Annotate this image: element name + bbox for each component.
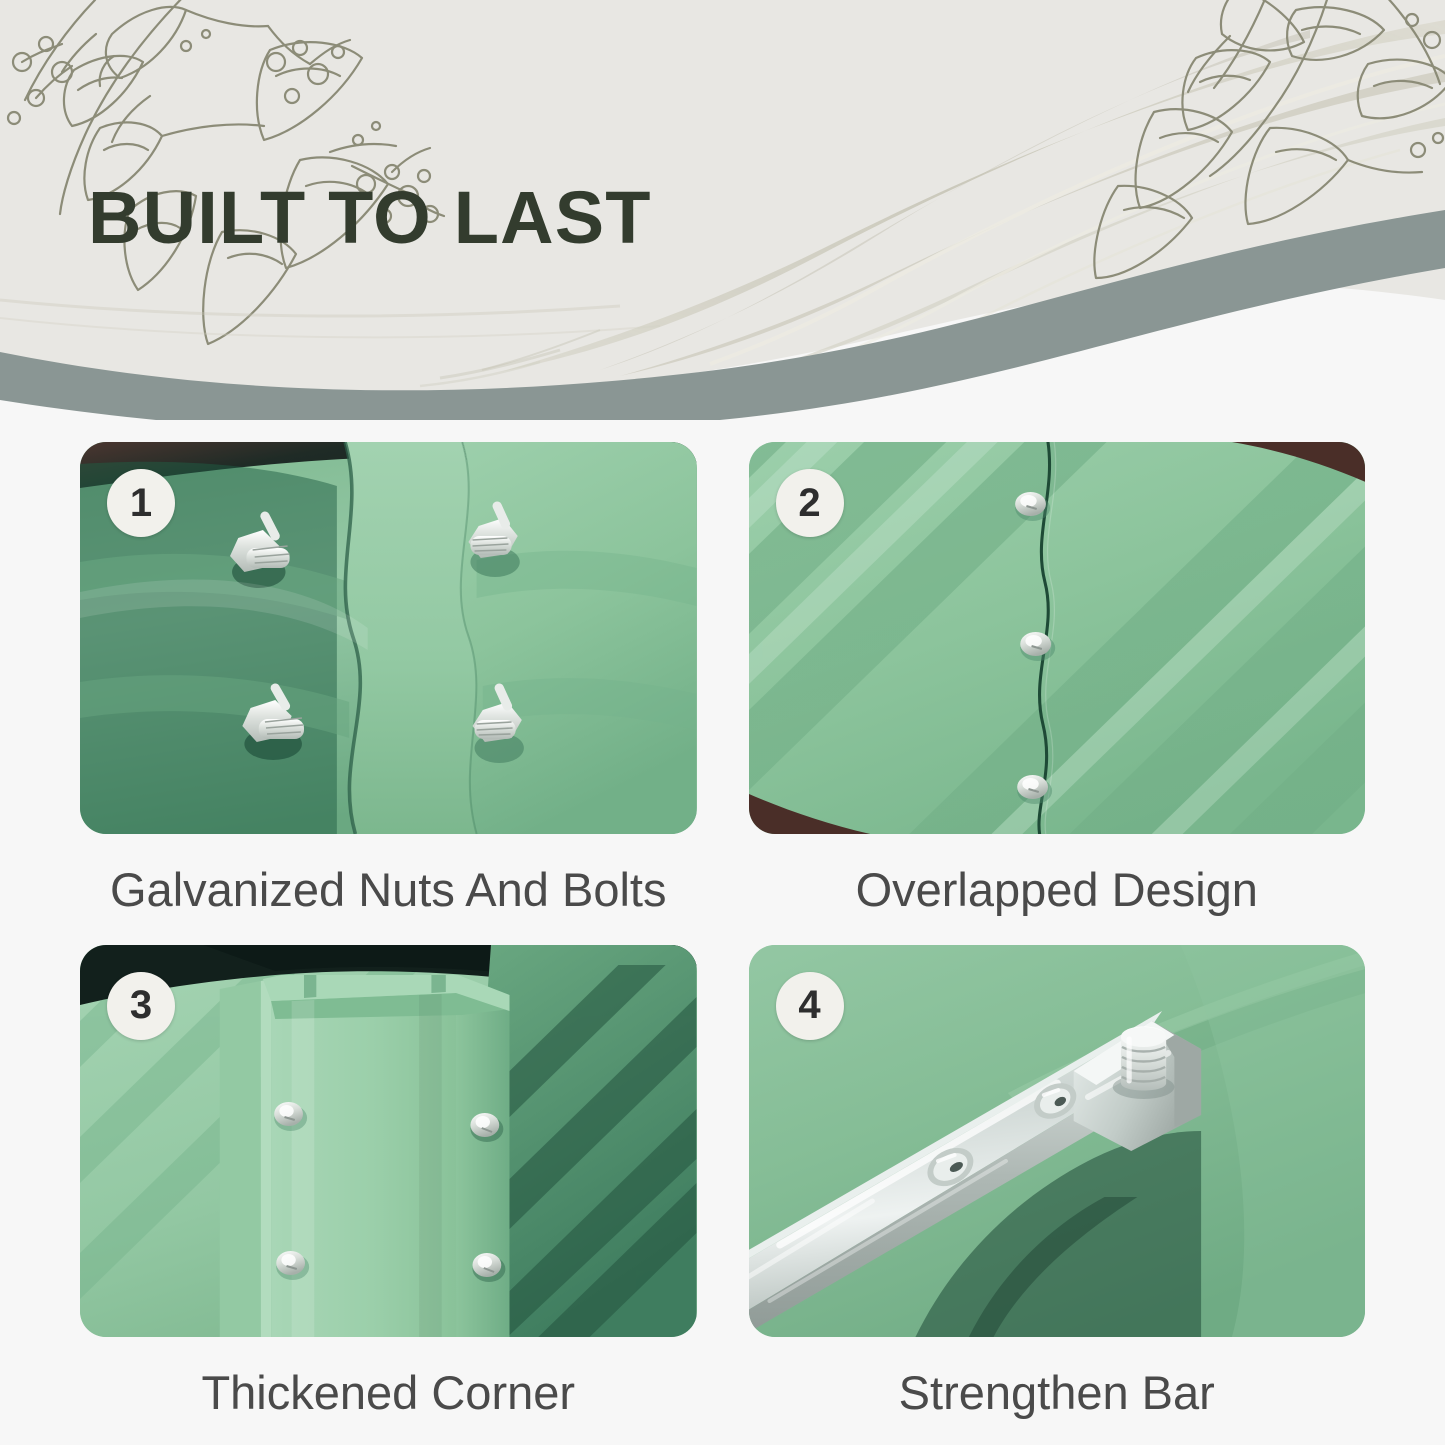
- feature-caption-3: Thickened Corner: [201, 1367, 575, 1419]
- feature-caption-2: Overlapped Design: [856, 864, 1258, 916]
- feature-photo-thickened-corner: 3: [80, 945, 697, 1337]
- threaded-bolt: [1112, 1026, 1174, 1099]
- badge-number-1: 1: [107, 469, 175, 537]
- badge-number-2: 2: [776, 469, 844, 537]
- hero-header: BUILT TO LAST: [0, 0, 1445, 420]
- feature-photo-strengthen-bar: 4: [749, 945, 1366, 1337]
- badge-number-4: 4: [776, 972, 844, 1040]
- page-title: BUILT TO LAST: [88, 181, 652, 255]
- feature-card-3[interactable]: 3 Thickened Corner: [80, 945, 697, 1436]
- feature-caption-4: Strengthen Bar: [899, 1367, 1215, 1419]
- badge-number-3: 3: [107, 972, 175, 1040]
- corner-post: [220, 975, 510, 1337]
- feature-card-4[interactable]: 4 Strengthen Bar: [749, 945, 1366, 1436]
- feature-caption-1: Galvanized Nuts And Bolts: [110, 864, 666, 916]
- feature-card-grid: 1 Galvanized Nuts And Bolts: [0, 420, 1445, 1445]
- feature-photo-galvanized-nuts-and-bolts: 1: [80, 442, 697, 834]
- feature-card-2[interactable]: 2 Overlapped Design: [749, 442, 1366, 933]
- feature-photo-overlapped-design: 2: [749, 442, 1366, 834]
- feature-card-1[interactable]: 1 Galvanized Nuts And Bolts: [80, 442, 697, 933]
